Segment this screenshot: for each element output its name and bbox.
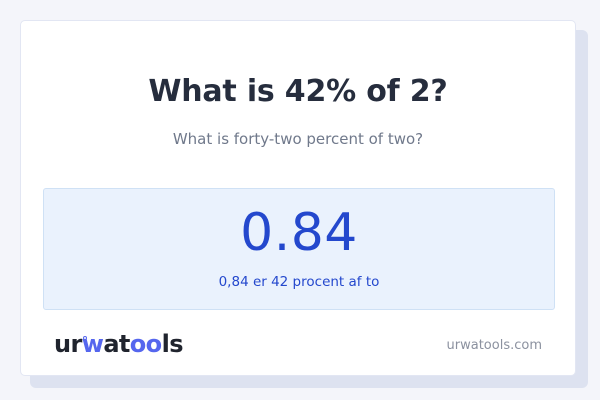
page-root: What is 42% of 2? What is forty-two perc… <box>0 0 600 400</box>
result-value: 0.84 <box>44 207 554 259</box>
page-title: What is 42% of 2? <box>21 74 575 109</box>
site-domain-label: urwatools.com <box>447 338 542 353</box>
result-panel: 0.84 0,84 er 42 procent af to <box>43 188 555 310</box>
result-caption: 0,84 er 42 procent af to <box>44 274 554 290</box>
logo-part-3: ls <box>162 330 183 358</box>
logo-accent-oo: oo <box>130 330 162 358</box>
logo-part-2: at <box>103 330 129 358</box>
page-subtitle: What is forty-two percent of two? <box>21 130 575 148</box>
result-card: What is 42% of 2? What is forty-two perc… <box>20 20 576 376</box>
logo-part-1: ur <box>54 330 82 358</box>
logo-accent-letter: w <box>82 330 104 358</box>
card-footer: urwatools urwatools.com <box>21 313 575 375</box>
brand-logo[interactable]: urwatools <box>54 332 183 356</box>
